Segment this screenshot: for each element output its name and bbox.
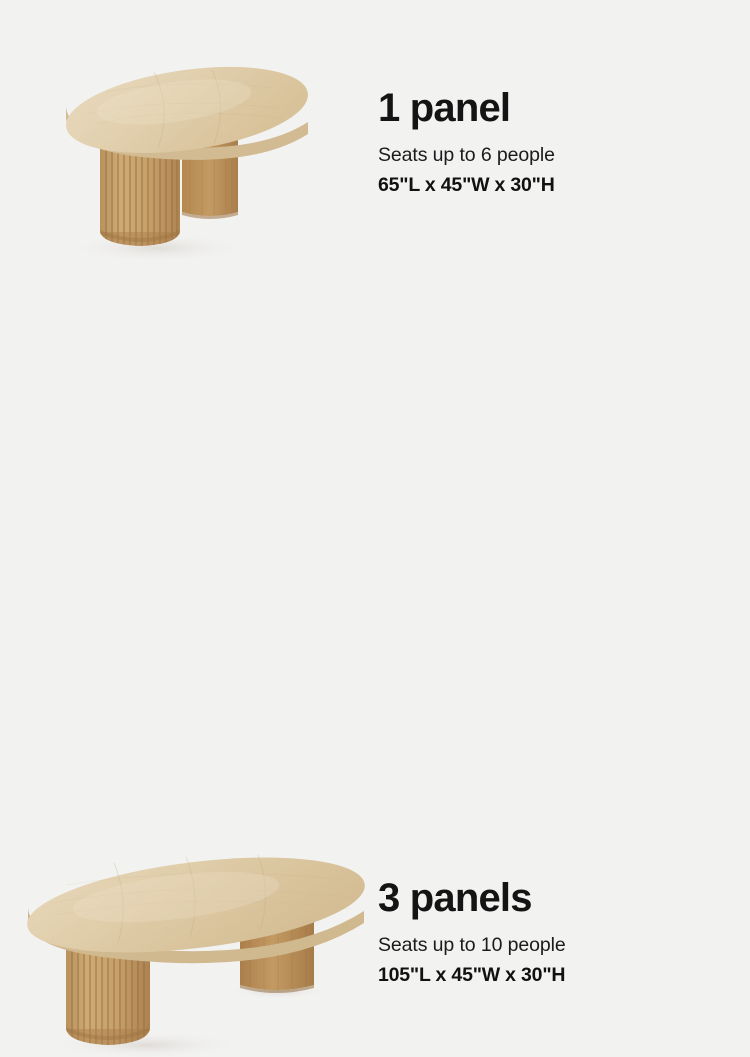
- variant-dimensions: 105"L x 45"W x 30"H: [378, 963, 718, 987]
- table-top: [26, 845, 370, 968]
- product-variant-three-panels: 3 panels Seats up to 10 people 105"L x 4…: [0, 375, 750, 751]
- variant-title: 1 panel: [378, 88, 718, 129]
- variant-seating: Seats up to 6 people: [378, 143, 718, 167]
- spec-one-panel: 1 panel Seats up to 6 people 65"L x 45"W…: [378, 88, 718, 198]
- product-variant-one-panel: 1 panel Seats up to 6 people 65"L x 45"W…: [0, 0, 750, 375]
- product-comparison-stage: 1 panel Seats up to 6 people 65"L x 45"W…: [0, 0, 750, 751]
- variant-seating: Seats up to 10 people: [378, 933, 718, 957]
- spec-three-panels: 3 panels Seats up to 10 people 105"L x 4…: [378, 878, 718, 988]
- variant-title: 3 panels: [378, 878, 718, 919]
- variant-dimensions: 65"L x 45"W x 30"H: [378, 173, 718, 197]
- table-top: [62, 62, 313, 167]
- table-image-three-panels: [26, 845, 378, 1057]
- table-image-one-panel: [62, 62, 330, 267]
